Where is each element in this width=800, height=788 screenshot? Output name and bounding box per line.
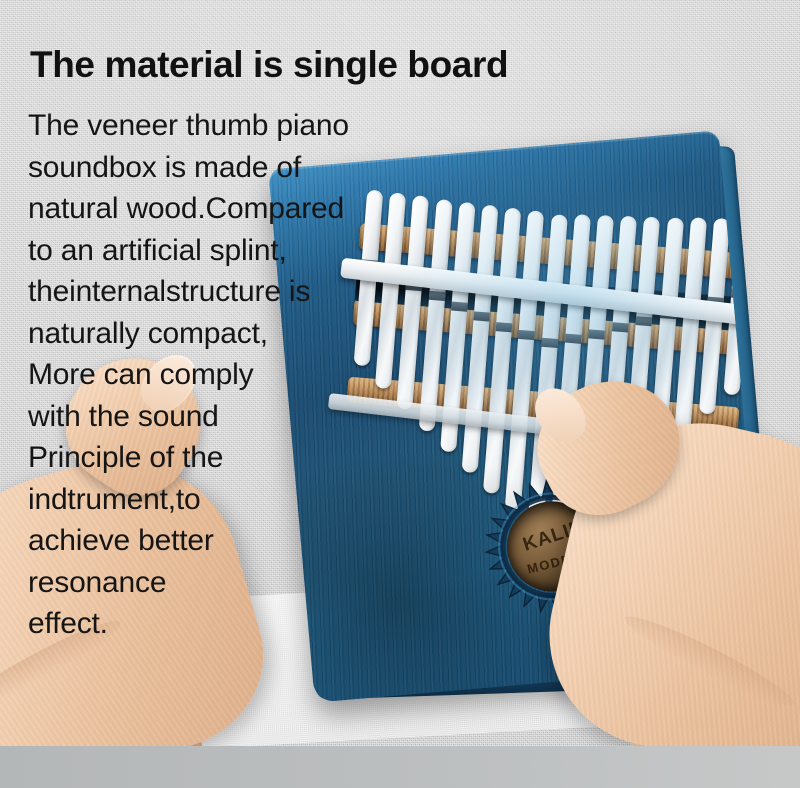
kalimba-tine: [418, 199, 452, 432]
tine-notch: [406, 281, 423, 291]
right-knuckle-shading: [619, 607, 800, 716]
tine-notch: [451, 301, 468, 311]
tine-notch: [361, 260, 378, 270]
bottom-gray-band: [0, 746, 800, 788]
kalimba-tine: [461, 205, 498, 473]
tine-notch: [383, 271, 400, 281]
right-hand-holding-kalimba: [520, 300, 800, 788]
kalimba-tines-group: [365, 171, 764, 202]
left-knuckle-shading: [0, 611, 126, 718]
kalimba-tine: [440, 202, 476, 452]
tine-notch: [473, 312, 490, 322]
kalimba-tine: [397, 196, 430, 411]
left-hand-holding-kalimba: [0, 330, 350, 788]
tine-notch: [496, 322, 513, 332]
tine-notch: [428, 291, 445, 301]
kalimba-tine: [483, 208, 521, 494]
product-feature-image: KALIM MODEL The material is single board…: [0, 0, 800, 788]
bridge-rail-upper: [359, 223, 752, 280]
kalimba-tine: [375, 193, 406, 390]
kalimba-tine: [354, 190, 384, 367]
